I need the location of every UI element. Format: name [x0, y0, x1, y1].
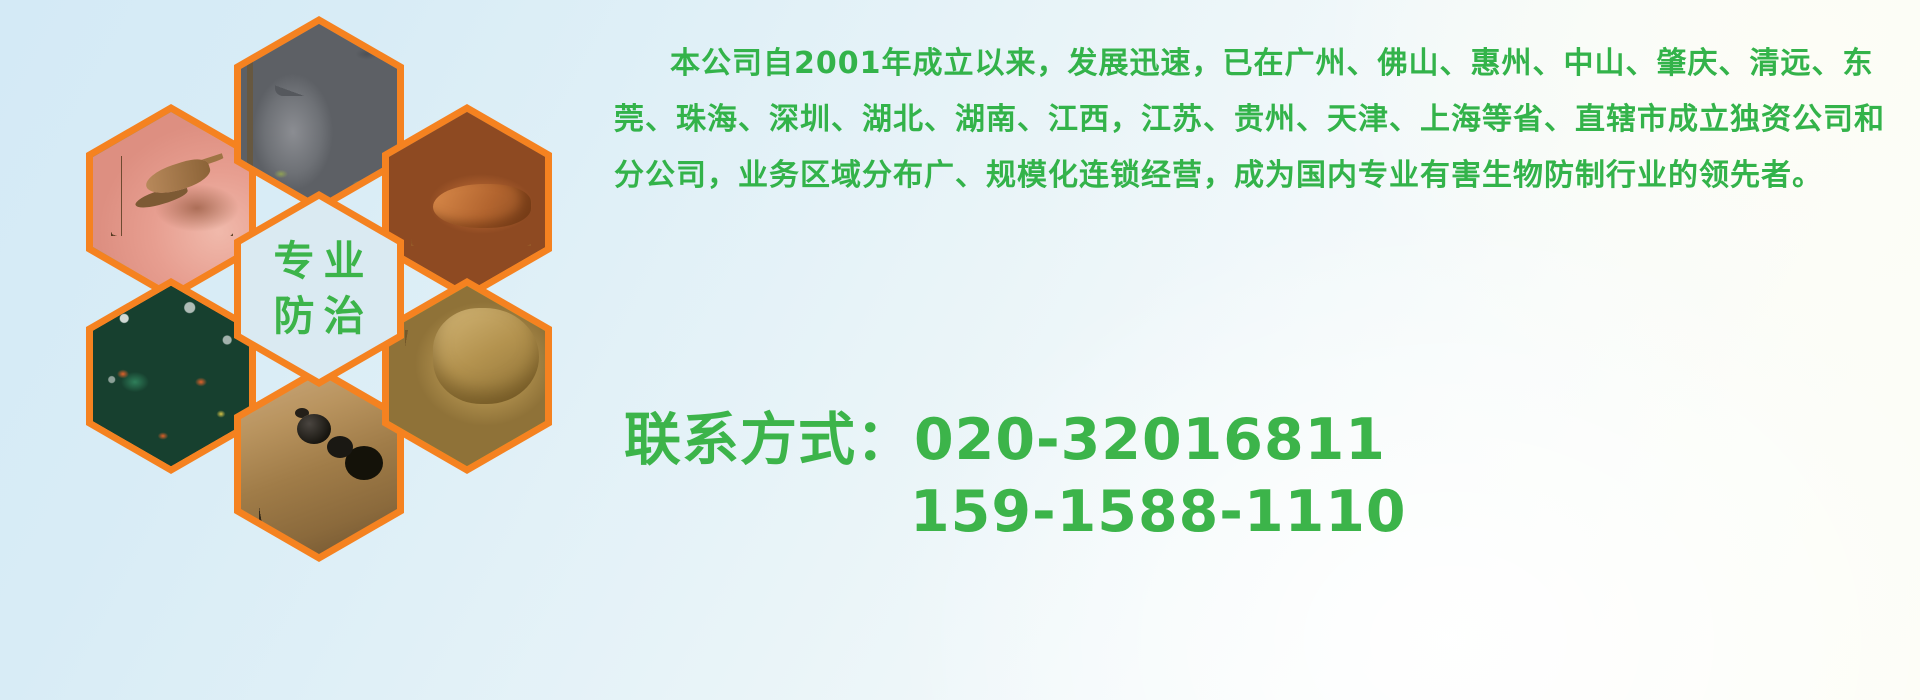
- hex-inner-rats: [241, 24, 397, 204]
- hex-inner-cockroach: [389, 112, 545, 292]
- hex-cell-mosquito: [86, 104, 256, 300]
- hex-inner-ant: [241, 374, 397, 554]
- ant-photo: [241, 374, 397, 554]
- hex-cell-ant: [234, 366, 404, 562]
- rats-photo: [241, 24, 397, 204]
- stinkbug-photo: [389, 286, 545, 466]
- hex-cell-center-label: [234, 191, 404, 387]
- cockroach-photo: [389, 112, 545, 292]
- mosquito-photo: [93, 112, 249, 292]
- hex-inner-stinkbug: [389, 286, 545, 466]
- company-intro-paragraph: 本公司自2001年成立以来，发展迅速，已在广州、佛山、惠州、中山、肇庆、清远、东…: [614, 36, 1910, 204]
- contact-block: 联系方式：020-32016811 159-1588-1110: [624, 404, 1864, 548]
- hex-cell-stinkbug: [382, 278, 552, 474]
- flies-photo: [93, 286, 249, 466]
- honeycomb-image-cluster: 专业 防治: [86, 0, 606, 588]
- hex-inner-flies: [93, 286, 249, 466]
- hex-inner-mosquito: [93, 112, 249, 292]
- hex-cell-cockroach: [382, 104, 552, 300]
- promo-banner: 专业 防治 本公司自2001年成立以来，发展迅速，已在广州、佛山、惠州、中山、肇…: [0, 0, 1920, 700]
- hex-cell-flies: [86, 278, 256, 474]
- hex-cell-rats: [234, 16, 404, 212]
- contact-phone-secondary[interactable]: 159-1588-1110: [624, 476, 1864, 548]
- contact-phone-primary[interactable]: 联系方式：020-32016811: [624, 404, 1864, 476]
- hex-inner-center: [241, 199, 397, 379]
